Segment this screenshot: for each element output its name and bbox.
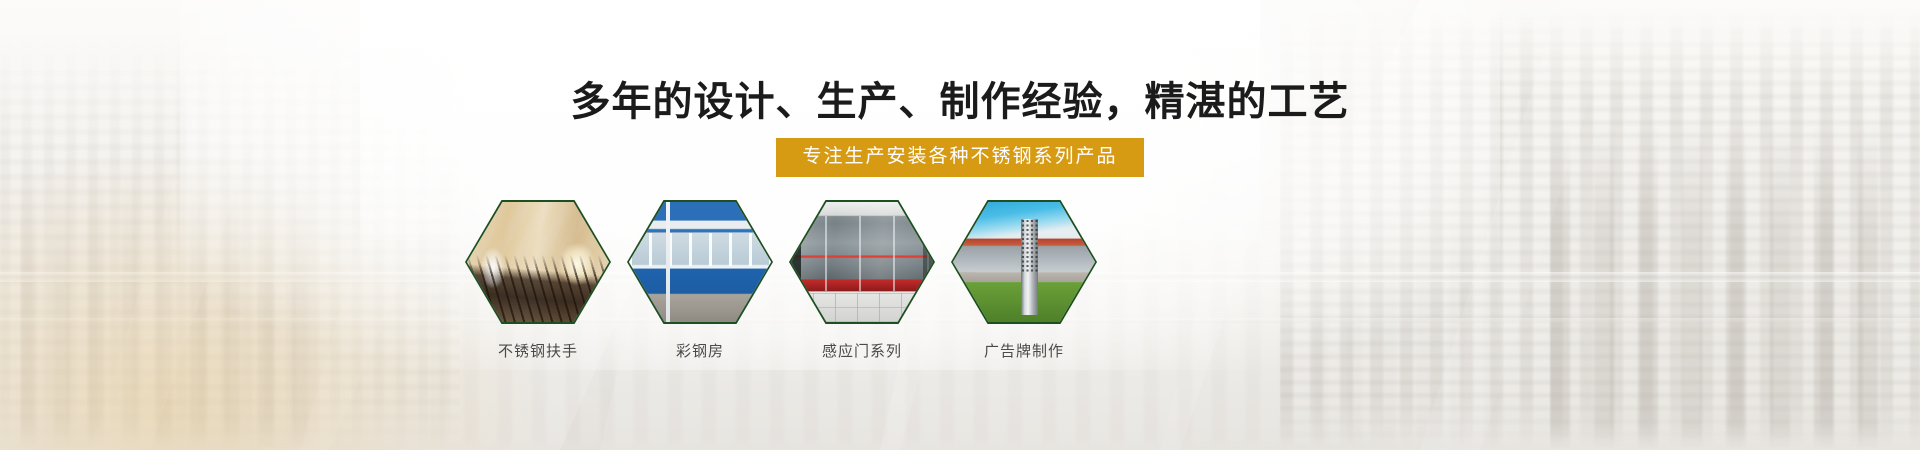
- banner-badge-wrapper: 专注生产安装各种不锈钢系列产品: [0, 138, 1920, 177]
- product-label: 广告牌制作: [951, 340, 1097, 361]
- hero-banner: 多年的设计、生产、制作经验，精湛的工艺 专注生产安装各种不锈钢系列产品 不锈钢扶…: [0, 0, 1920, 450]
- hexagon-image-clip: [629, 202, 771, 322]
- automatic-sensor-door-photo: [791, 202, 933, 322]
- banner-subtitle-badge: 专注生产安装各种不锈钢系列产品: [776, 138, 1143, 177]
- banner-content: 多年的设计、生产、制作经验，精湛的工艺 专注生产安装各种不锈钢系列产品 不锈钢扶…: [0, 0, 1920, 450]
- hexagon-frame: [951, 200, 1097, 324]
- billboard-signage-photo: [953, 202, 1095, 322]
- hexagon-image-clip: [953, 202, 1095, 322]
- product-label: 不锈钢扶手: [465, 340, 611, 361]
- color-steel-guard-house-photo: [629, 202, 771, 322]
- hexagon-image-clip: [791, 202, 933, 322]
- hexagon-frame: [627, 200, 773, 324]
- product-item-color-steel-house[interactable]: 彩钢房: [627, 200, 773, 361]
- product-item-billboard[interactable]: 广告牌制作: [951, 200, 1097, 361]
- banner-headline: 多年的设计、生产、制作经验，精湛的工艺: [0, 78, 1920, 126]
- hexagon-frame: [789, 200, 935, 324]
- hexagon-frame: [465, 200, 611, 324]
- product-label: 彩钢房: [627, 340, 773, 361]
- product-item-sensor-door[interactable]: 感应门系列: [789, 200, 935, 361]
- product-label: 感应门系列: [789, 340, 935, 361]
- product-item-handrail[interactable]: 不锈钢扶手: [465, 200, 611, 361]
- product-hexagon-row: 不锈钢扶手 彩钢房 感应门系列: [465, 200, 1125, 400]
- stainless-steel-handrail-photo: [467, 202, 609, 322]
- hexagon-image-clip: [467, 202, 609, 322]
